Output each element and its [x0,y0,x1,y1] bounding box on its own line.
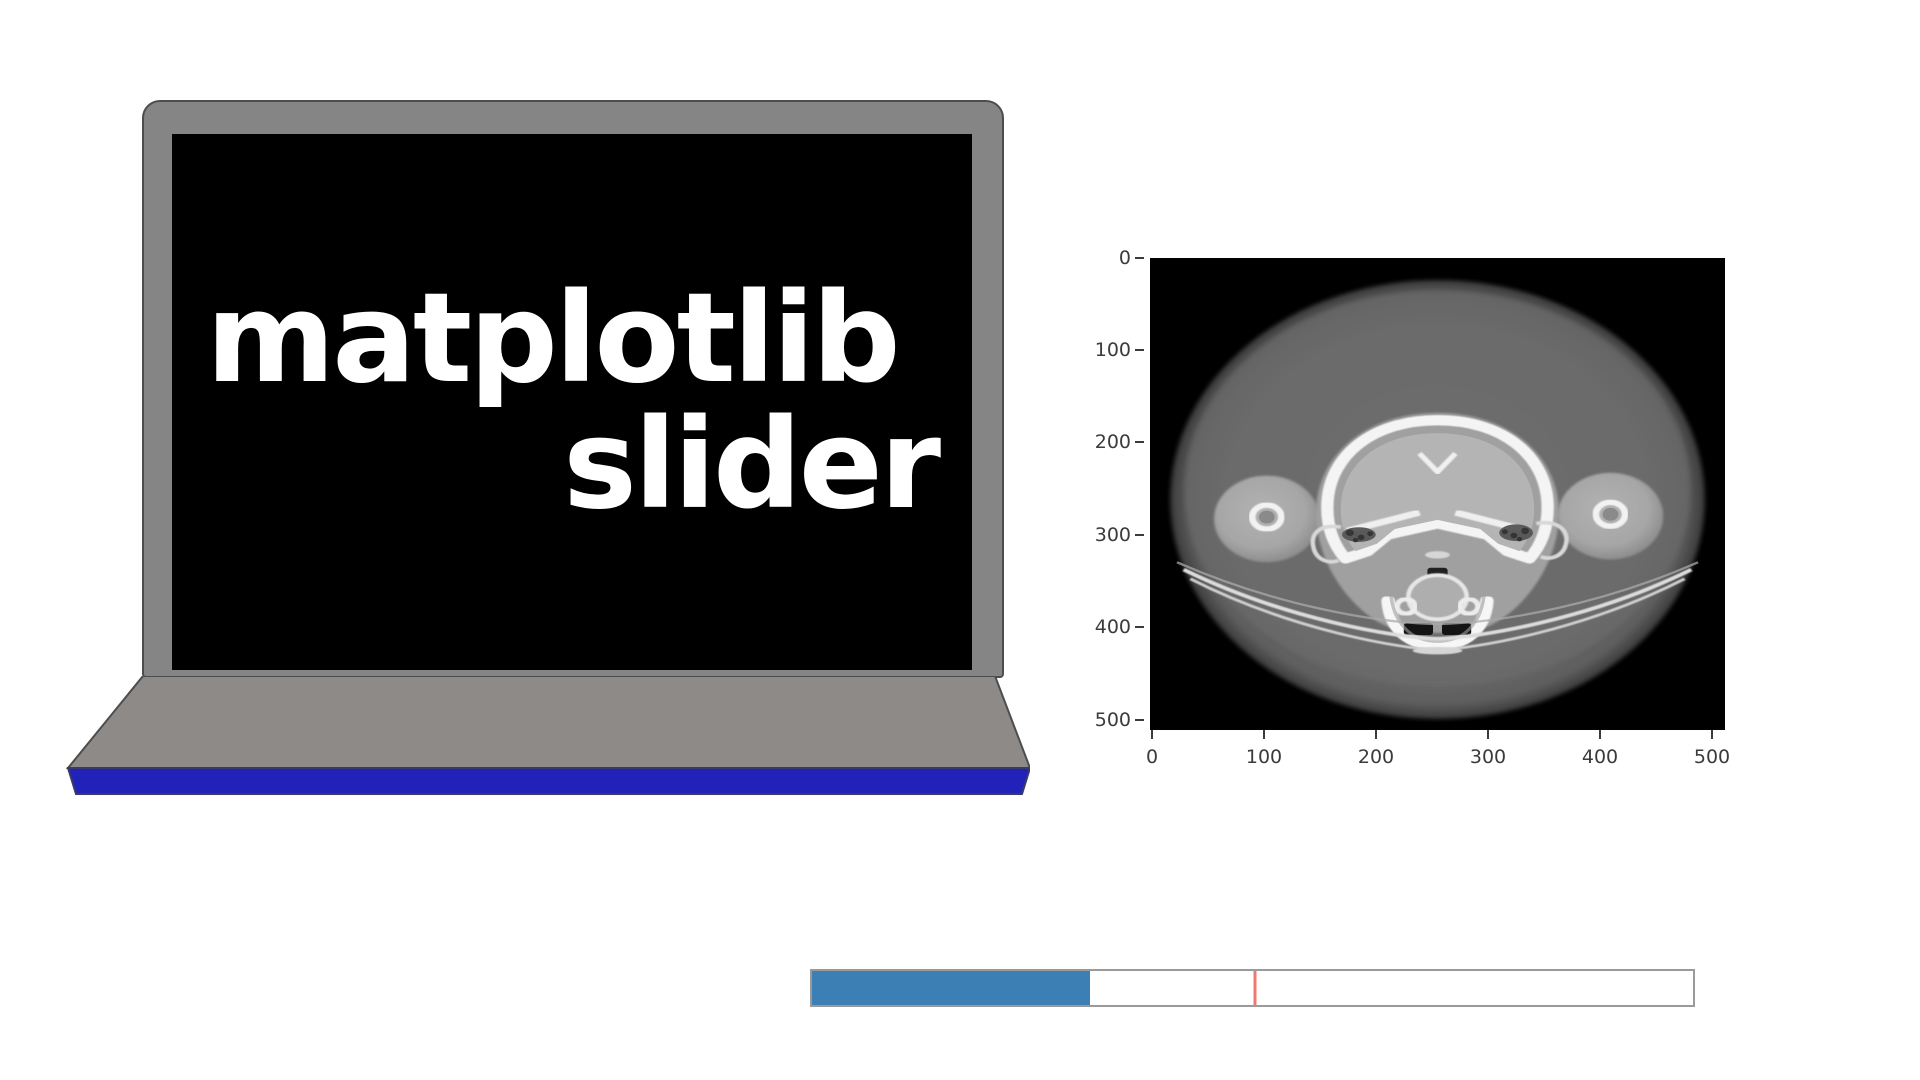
screen-text-block: matplotlib slider [172,134,972,670]
matplotlib-figure: 0 100 200 300 400 500 [980,240,1900,1040]
screen-text-line-1: matplotlib [206,276,938,402]
y-axis-ticks: 0 100 200 300 400 500 [980,240,1145,730]
x-axis-ticks: 0 100 200 300 400 500 [1150,730,1725,776]
x-tick-label: 0 [1146,746,1158,768]
x-tick-mark [1375,730,1377,739]
y-tick-mark [1135,349,1144,351]
laptop-illustration: matplotlib slider [0,0,1100,900]
x-tick-mark [1151,730,1153,739]
ct-scan-image [1150,258,1725,730]
x-tick-label: 300 [1470,746,1506,768]
y-tick-mark [1135,441,1144,443]
laptop-screen: matplotlib slider [172,134,972,670]
y-tick-mark [1135,257,1144,259]
y-tick-label: 0 [1119,247,1131,269]
x-tick-mark [1599,730,1601,739]
y-tick-label: 300 [1095,524,1131,546]
slider-init-value-marker [1254,971,1257,1005]
laptop-base-deck-surface [68,676,1030,768]
x-tick-label: 200 [1358,746,1394,768]
x-tick-mark [1711,730,1713,739]
plot-axes: 0 100 200 300 400 500 [980,240,1800,800]
screen-text-line-2: slider [206,402,938,528]
y-tick-mark [1135,719,1144,721]
y-tick-label: 400 [1095,616,1131,638]
slider-fill[interactable] [812,971,1090,1005]
y-tick-mark [1135,534,1144,536]
x-tick-mark [1263,730,1265,739]
slider-widget[interactable] [810,955,1900,1015]
x-tick-label: 400 [1582,746,1618,768]
y-tick-label: 500 [1095,709,1131,731]
laptop-base-front-lip [68,768,1030,794]
x-tick-label: 100 [1246,746,1282,768]
x-tick-mark [1487,730,1489,739]
y-tick-label: 200 [1095,431,1131,453]
slider-track[interactable] [810,969,1695,1007]
x-tick-label: 500 [1694,746,1730,768]
laptop-base [30,676,1030,796]
y-tick-mark [1135,626,1144,628]
y-tick-label: 100 [1095,339,1131,361]
